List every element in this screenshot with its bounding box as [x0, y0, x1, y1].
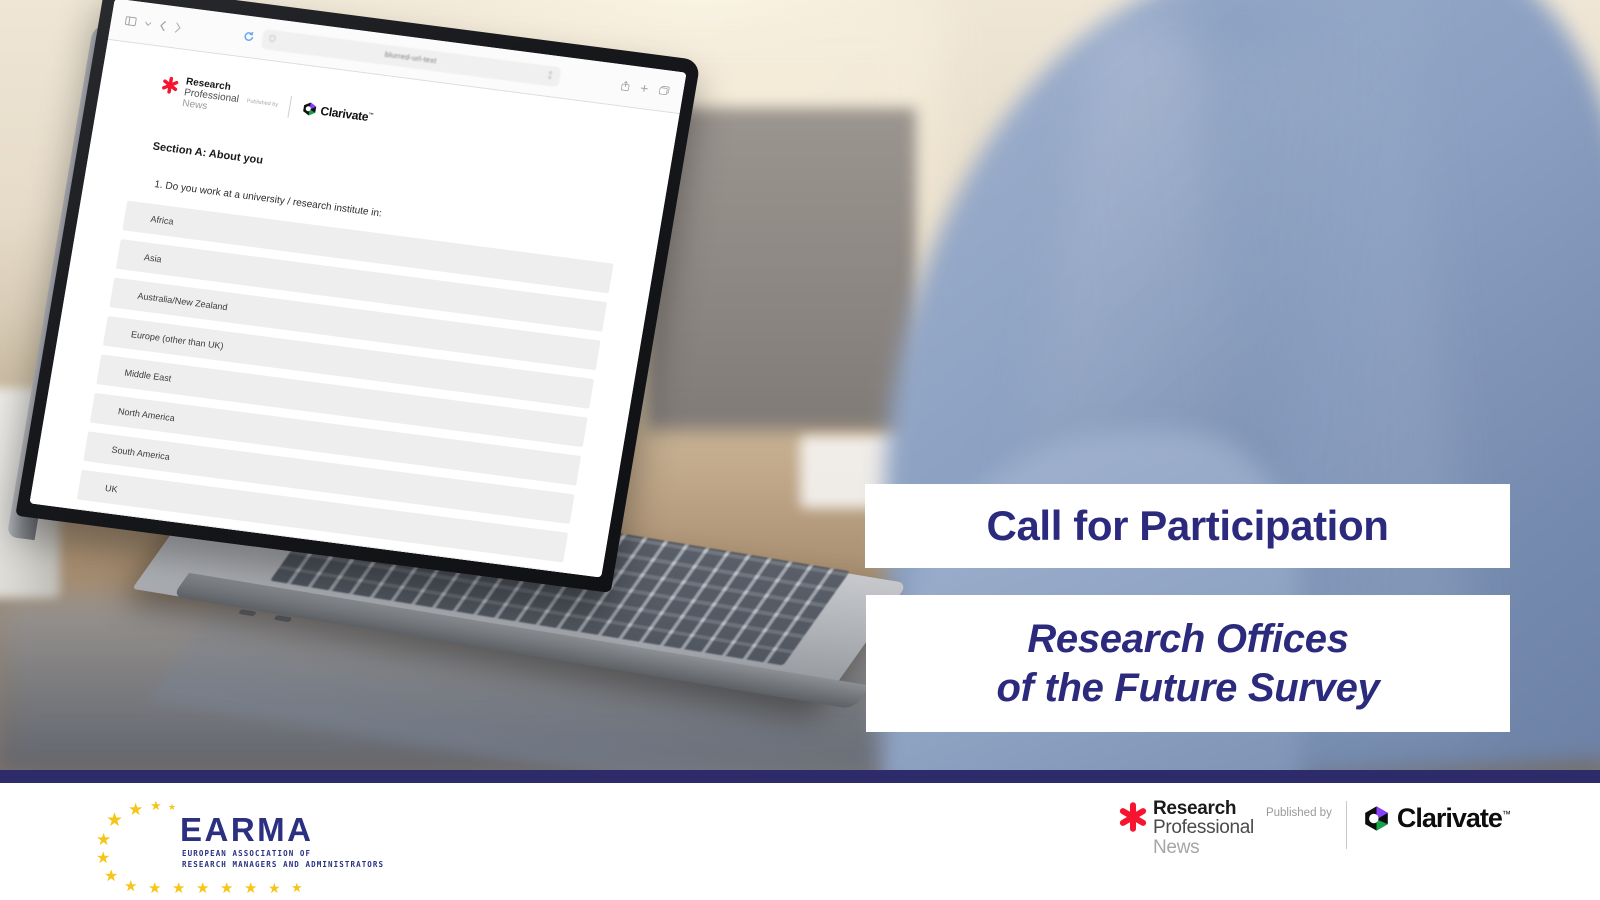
footer-published-by-label: Published by [1266, 807, 1332, 819]
laptop: blurred-url-text [0, 0, 1000, 770]
divider-bar [0, 770, 1600, 783]
share-icon[interactable] [621, 80, 631, 91]
page-title: Call for Participation [987, 502, 1389, 550]
star-icon: ★ [168, 803, 176, 812]
footer-brand-research: Research [1153, 799, 1254, 818]
headline-banner-primary: Call for Participation [865, 484, 1510, 568]
star-icon: ★ [128, 801, 143, 818]
star-icon: ★ [172, 881, 185, 896]
star-icon: ★ [96, 831, 111, 848]
shield-icon [268, 35, 275, 45]
background-photo: blurred-url-text [0, 0, 1600, 770]
clarivate-hexagon-icon [1363, 805, 1390, 832]
star-icon: ★ [104, 869, 118, 885]
chevron-down-icon[interactable] [145, 21, 152, 26]
star-icon: ★ [96, 851, 110, 867]
reload-icon[interactable] [242, 30, 255, 42]
star-icon: ★ [220, 881, 233, 896]
forward-chevron-icon[interactable] [174, 22, 182, 33]
footer-brand-professional: Professional [1153, 818, 1254, 837]
star-icon: ★ [106, 811, 123, 830]
star-icon: ★ [148, 881, 161, 896]
clarivate-logo: Clarivate™ [300, 101, 374, 125]
star-icon: ★ [124, 879, 137, 894]
back-chevron-icon[interactable] [159, 20, 167, 31]
plus-icon[interactable] [640, 83, 649, 92]
logo-divider [287, 96, 292, 118]
footer-logo-divider [1346, 801, 1347, 849]
footer-brand-news: News [1153, 838, 1254, 857]
url-text: blurred-url-text [384, 50, 437, 66]
star-icon: ★ [244, 881, 257, 896]
refresh-icon[interactable] [546, 70, 554, 81]
clarivate-wordmark: Clarivate™ [319, 104, 374, 125]
asterisk-icon [1118, 802, 1148, 832]
asterisk-icon [160, 75, 181, 95]
earma-tagline-line-1: EUROPEAN ASSOCIATION OF [182, 848, 384, 859]
earma-wordmark: EARMA [180, 811, 314, 849]
headline-banner-secondary: Research Offices of the Future Survey [866, 595, 1510, 732]
subtitle-line-2: of the Future Survey [997, 664, 1380, 713]
footer: ★ ★ ★ ★ ★ ★ ★ ★ ★ ★ ★ ★ ★ ★ ★ EARMA EURO… [0, 783, 1600, 900]
earma-tagline-line-2: RESEARCH MANAGERS AND ADMINISTRATORS [182, 859, 384, 870]
subtitle-line-1: Research Offices [997, 615, 1380, 664]
survey-page: Research Professional News Published by [29, 40, 679, 578]
earma-logo: ★ ★ ★ ★ ★ ★ ★ ★ ★ ★ ★ ★ ★ ★ ★ EARMA EURO… [70, 793, 400, 893]
clarivate-footer-logo: Clarivate™ [1363, 803, 1510, 834]
clarivate-footer-wordmark: Clarivate™ [1397, 803, 1510, 834]
star-icon: ★ [291, 881, 303, 894]
options-list: Africa Asia Australia/New Zealand Europe… [70, 200, 613, 577]
laptop-screen: blurred-url-text [29, 0, 686, 578]
clarivate-hexagon-icon [300, 101, 317, 118]
star-icon: ★ [150, 799, 162, 812]
research-professional-footer-logo: Research Professional News Published by … [1118, 799, 1510, 857]
laptop-lid: blurred-url-text [15, 0, 700, 593]
page-subtitle: Research Offices of the Future Survey [997, 615, 1380, 713]
earma-tagline: EUROPEAN ASSOCIATION OF RESEARCH MANAGER… [182, 848, 384, 871]
star-icon: ★ [268, 881, 281, 895]
star-icon: ★ [196, 881, 209, 896]
tab-overview-icon[interactable] [659, 85, 670, 95]
published-by-label: Published by [246, 98, 278, 108]
poster-canvas: blurred-url-text [0, 0, 1600, 900]
sidebar-icon[interactable] [125, 16, 137, 26]
